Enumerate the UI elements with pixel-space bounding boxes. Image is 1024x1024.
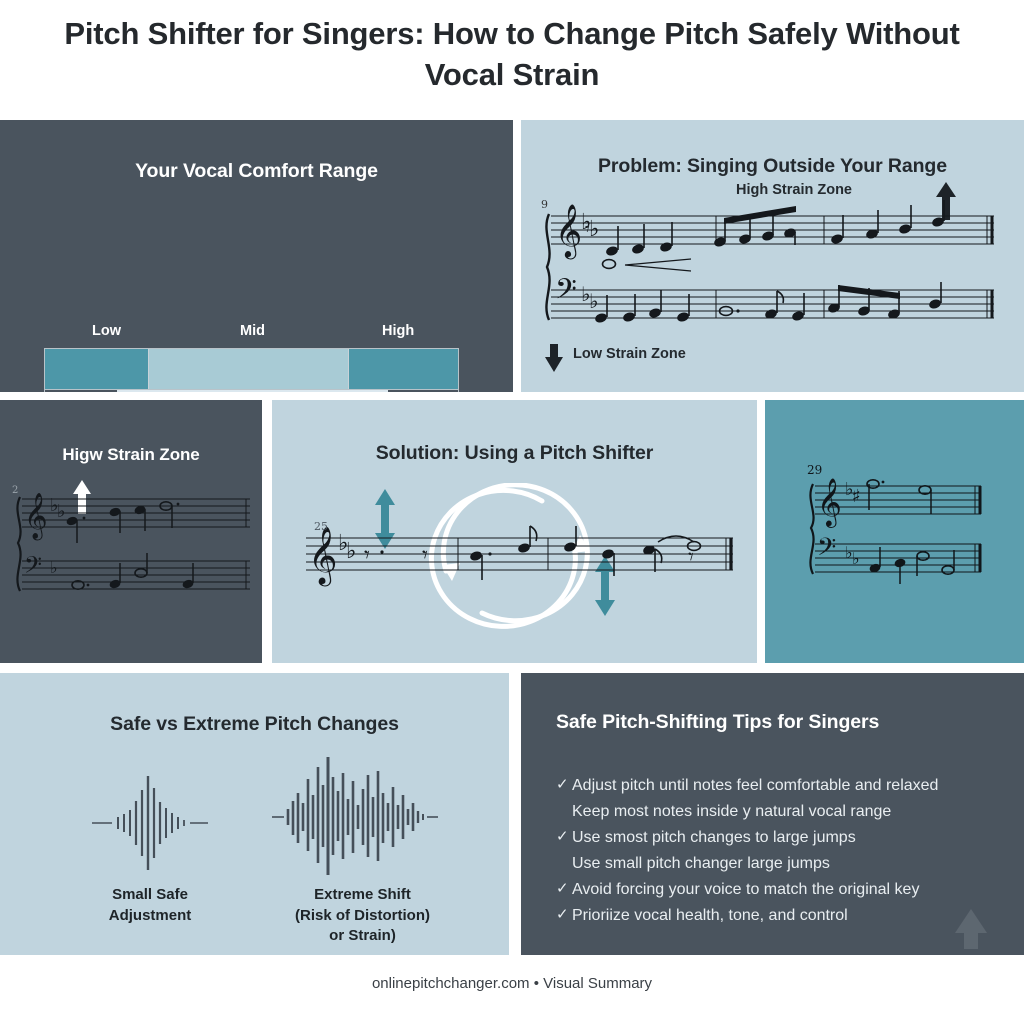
tip-text: Adjust pitch until notes feel comfortabl… xyxy=(572,773,938,799)
up-arrow-watermark-icon xyxy=(951,905,991,949)
scale-label-low: Low xyxy=(92,323,121,339)
infographic-page: Pitch Shifter for Singers: How to Change… xyxy=(0,0,1024,1024)
range-segment-low xyxy=(45,349,148,389)
svg-text:𝄞: 𝄞 xyxy=(24,493,48,541)
extreme-waveform-icon xyxy=(270,755,440,880)
music-staff-teal: 𝄞 𝄢 ♭ ♯ ♭ ♭ 29 xyxy=(805,462,990,597)
extreme-waveform-caption: Extreme Shift (Risk of Distortion) or St… xyxy=(245,885,480,947)
svg-text:𝄞: 𝄞 xyxy=(555,203,582,259)
small-waveform-caption: Small Safe Adjustment xyxy=(40,885,260,926)
tip-item: ✓Avoid forcing your voice to match the o… xyxy=(556,877,1011,903)
check-icon: ✓ xyxy=(556,825,572,849)
range-segment-mid xyxy=(148,349,348,389)
music-staff-high-strain: 𝄞 𝄢 ♭ ♭ ♭ xyxy=(10,485,260,605)
vocal-range-heading: Your Vocal Comfort Range xyxy=(0,160,513,183)
tips-heading: Safe Pitch-Shifting Tips for Singers xyxy=(521,711,1024,734)
panel-high-strain-zone: Higw Strain Zone 𝄞 𝄢 ♭ xyxy=(0,400,262,663)
svg-text:♭: ♭ xyxy=(589,289,598,313)
page-title: Pitch Shifter for Singers: How to Change… xyxy=(0,14,1024,96)
svg-text:♭: ♭ xyxy=(589,217,599,242)
small-caption-line-2: Adjustment xyxy=(40,906,260,927)
svg-text:𝄾: 𝄾 xyxy=(585,219,590,240)
svg-text:𝄾: 𝄾 xyxy=(688,545,694,570)
svg-text:9: 9 xyxy=(541,198,548,211)
high-strain-zone-label: High Strain Zone xyxy=(736,182,852,198)
small-waveform-icon xyxy=(90,768,210,878)
tip-text: Avoid forcing your voice to match the or… xyxy=(572,877,919,903)
svg-text:𝄢: 𝄢 xyxy=(24,551,42,584)
tip-item: ✓Use smost pitch changes to large jumps xyxy=(556,825,1011,851)
svg-text:𝄞: 𝄞 xyxy=(817,477,842,528)
vocal-range-scale-labels: Low Mid High xyxy=(44,323,459,345)
svg-text:𝄞: 𝄞 xyxy=(308,526,338,587)
svg-text:𝄢: 𝄢 xyxy=(555,273,577,313)
svg-text:𝄢: 𝄢 xyxy=(817,533,836,568)
panel-solution-pitch-shifter: Solution: Using a Pitch Shifter xyxy=(272,400,757,663)
tip-item: ✓Adjust pitch until notes feel comfortab… xyxy=(556,773,1011,799)
high-strain-heading: Higw Strain Zone xyxy=(0,445,262,465)
extreme-caption-line-2: (Risk of Distortion) xyxy=(245,906,480,927)
svg-text:𝄾: 𝄾 xyxy=(422,543,428,568)
tip-text: Prioriize vocal health, tone, and contro… xyxy=(572,903,848,929)
measure-number: 29 xyxy=(807,463,822,477)
down-arrow-icon xyxy=(543,342,565,374)
tip-text: Use smost pitch changes to large jumps xyxy=(572,825,856,851)
svg-text:♭: ♭ xyxy=(852,549,860,568)
music-staff-problem: 𝄞 𝄢 ♭ ♭ ♭ ♭ 𝄾 xyxy=(539,198,1004,338)
panel-safe-vs-extreme: Safe vs Extreme Pitch Changes xyxy=(0,673,509,955)
scale-label-mid: Mid xyxy=(240,323,265,339)
solution-heading: Solution: Using a Pitch Shifter xyxy=(272,442,757,465)
waveforms-heading: Safe vs Extreme Pitch Changes xyxy=(0,713,509,736)
extreme-caption-line-3: or Strain) xyxy=(245,926,480,947)
small-caption-line-1: Small Safe xyxy=(40,885,260,906)
check-icon: ✓ xyxy=(556,773,572,797)
tip-text: Keep most notes inside y natural vocal r… xyxy=(572,799,891,825)
comfort-row: Comfortable Singing Range xyxy=(45,389,458,392)
tips-list: ✓Adjust pitch until notes feel comfortab… xyxy=(556,773,1011,928)
panel-problem-singing-outside-range: Problem: Singing Outside Your Range High… xyxy=(521,120,1024,392)
range-bar-row xyxy=(45,349,458,389)
check-icon: ✓ xyxy=(556,877,572,901)
low-strain-zone-label: Low Strain Zone xyxy=(573,346,686,362)
check-icon: ✓ xyxy=(556,903,572,927)
panel-safe-tips: Safe Pitch-Shifting Tips for Singers ✓Ad… xyxy=(521,673,1024,955)
svg-text:♭: ♭ xyxy=(50,558,58,577)
comfortable-range-label: Comfortable Singing Range xyxy=(117,390,388,392)
panel-teal-staff: 𝄞 𝄢 ♭ ♯ ♭ ♭ 29 xyxy=(765,400,1024,663)
vocal-range-chart: Comfortable Singing Range xyxy=(44,348,459,392)
music-staff-solution: 𝄞 ♭ ♭ 𝄾 𝄾 � xyxy=(298,518,743,602)
problem-heading: Problem: Singing Outside Your Range xyxy=(521,155,1024,178)
svg-text:♭: ♭ xyxy=(346,539,356,564)
extreme-caption-line-1: Extreme Shift xyxy=(245,885,480,906)
svg-text:♯: ♯ xyxy=(852,486,861,507)
measure-number: 2 xyxy=(12,485,18,496)
panel-vocal-comfort-range: Your Vocal Comfort Range Low Mid High Co… xyxy=(0,120,513,392)
range-segment-high xyxy=(349,349,458,389)
scale-label-high: High xyxy=(382,323,414,339)
measure-number: 25 xyxy=(314,520,328,533)
tip-item: Use small pitch changer large jumps xyxy=(556,851,1011,877)
footer-text: onlinepitchchanger.com • Visual Summary xyxy=(0,975,1024,992)
tip-item: Keep most notes inside y natural vocal r… xyxy=(556,799,1011,825)
svg-text:𝄾: 𝄾 xyxy=(364,543,370,568)
tip-text: Use small pitch changer large jumps xyxy=(572,851,830,877)
svg-text:♭: ♭ xyxy=(57,501,66,522)
tip-item: ✓Prioriize vocal health, tone, and contr… xyxy=(556,903,1011,929)
